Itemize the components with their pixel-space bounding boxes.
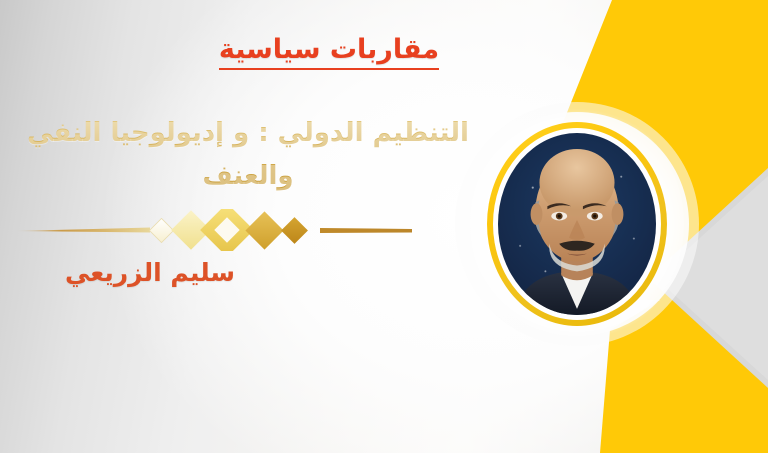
ornamental-divider	[0, 209, 420, 251]
pupil-right	[593, 215, 596, 218]
title-line-1: التنظيم الدولي : و إديولوجيا النفي	[8, 112, 488, 155]
series-label-text: مقاربات سياسية	[219, 34, 439, 70]
series-label: مقاربات سياسية	[0, 34, 768, 70]
divider-diamond-3-hollow	[200, 209, 254, 251]
avatar-photo	[498, 133, 656, 315]
title-line-2: والعنف	[8, 155, 488, 198]
divider-line-left	[14, 228, 150, 233]
divider-diamond-1	[149, 218, 173, 242]
pupil-left	[558, 215, 561, 218]
ear-left	[531, 203, 543, 225]
author-name-text: سليم الزريعي	[65, 258, 235, 287]
author-name: سليم الزريعي	[0, 258, 300, 287]
divider-diamond-5	[281, 217, 308, 244]
divider-line-right	[320, 228, 412, 233]
divider-diamond-4	[245, 211, 283, 249]
presentation-slide: مقاربات سياسية التنظيم الدولي : و إديولو…	[0, 0, 768, 453]
ear-right	[612, 203, 624, 225]
page-title: التنظيم الدولي : و إديولوجيا النفي والعن…	[8, 112, 488, 198]
avatar	[487, 122, 667, 326]
